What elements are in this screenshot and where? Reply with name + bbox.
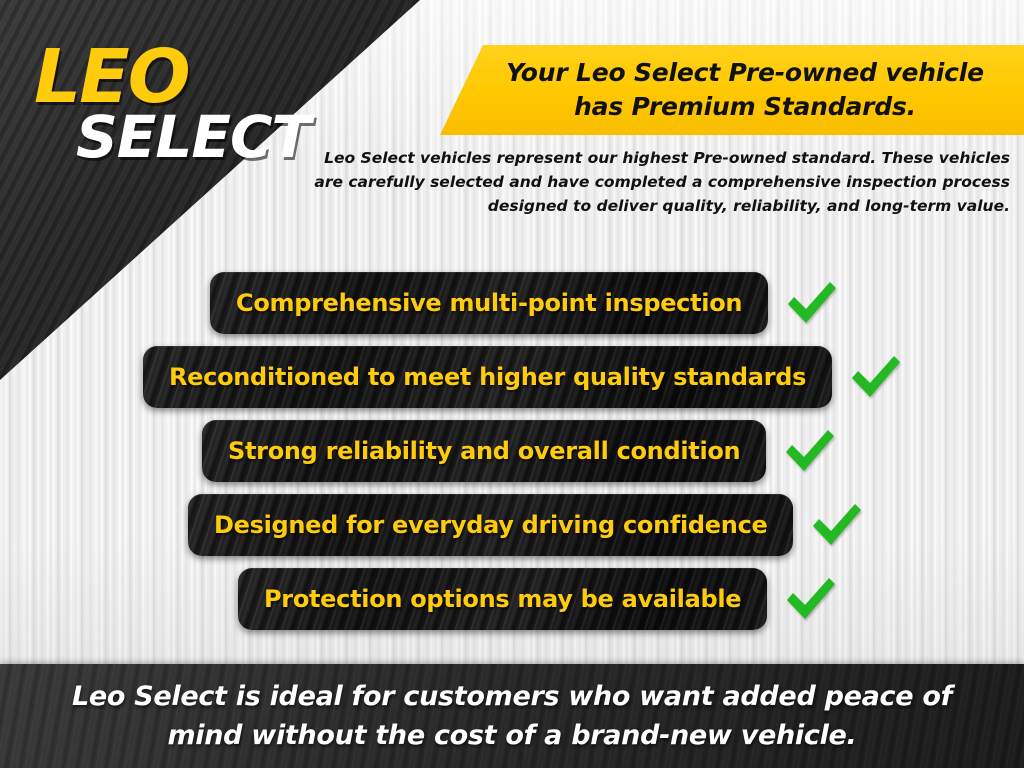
- feature-row: Strong reliability and overall condition: [202, 420, 836, 482]
- feature-row: Protection options may be available: [238, 568, 837, 630]
- logo-select-text: SELECT: [76, 108, 334, 166]
- feature-label: Strong reliability and overall condition: [228, 437, 740, 465]
- headline-text: Your Leo Select Pre-owned vehicle has Pr…: [440, 56, 1024, 124]
- feature-pill: Reconditioned to meet higher quality sta…: [143, 346, 832, 408]
- feature-row: Designed for everyday driving confidence: [188, 494, 863, 556]
- feature-label: Protection options may be available: [264, 585, 741, 613]
- footer-bar: Leo Select is ideal for customers who wa…: [0, 664, 1024, 768]
- feature-label: Comprehensive multi-point inspection: [236, 289, 742, 317]
- check-icon: [809, 501, 863, 549]
- leo-select-promo-poster: LEO SELECT Your Leo Select Pre-owned veh…: [0, 0, 1024, 768]
- leo-select-logo: LEO SELECT: [34, 40, 334, 166]
- feature-list: Comprehensive multi-point inspection Rec…: [0, 266, 1024, 656]
- feature-label: Reconditioned to meet higher quality sta…: [169, 363, 806, 391]
- check-icon: [784, 279, 838, 327]
- feature-pill: Designed for everyday driving confidence: [188, 494, 793, 556]
- check-icon: [848, 353, 902, 401]
- footer-text: Leo Select is ideal for customers who wa…: [0, 677, 1024, 755]
- feature-row: Reconditioned to meet higher quality sta…: [143, 346, 902, 408]
- headline-banner: Your Leo Select Pre-owned vehicle has Pr…: [440, 45, 1024, 135]
- feature-pill: Protection options may be available: [238, 568, 767, 630]
- check-icon: [782, 427, 836, 475]
- feature-label: Designed for everyday driving confidence: [214, 511, 767, 539]
- feature-row: Comprehensive multi-point inspection: [210, 272, 838, 334]
- feature-pill: Strong reliability and overall condition: [202, 420, 766, 482]
- intro-paragraph: Leo Select vehicles represent our highes…: [310, 146, 1010, 218]
- feature-pill: Comprehensive multi-point inspection: [210, 272, 768, 334]
- check-icon: [783, 575, 837, 623]
